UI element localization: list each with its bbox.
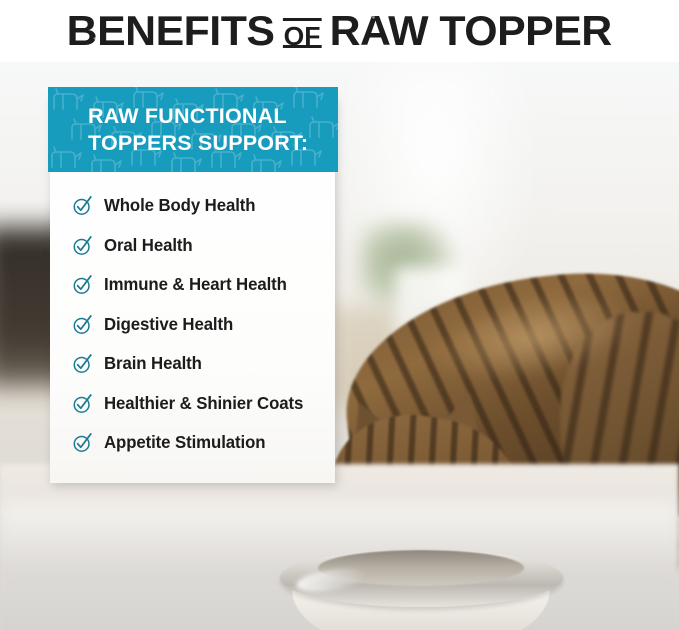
poster-canvas: BENEFITS OF RAW TOPPER: [0, 0, 679, 630]
benefit-item: Oral Health: [50, 226, 335, 266]
check-circle-icon: [72, 314, 93, 335]
benefit-label: Digestive Health: [104, 314, 233, 335]
check-circle-icon: [72, 353, 93, 374]
benefit-item: Immune & Heart Health: [50, 265, 335, 305]
page-title: BENEFITS OF RAW TOPPER: [0, 0, 679, 62]
benefit-item: Appetite Stimulation: [50, 423, 335, 463]
card-header-text: RAW FUNCTIONAL TOPPERS SUPPORT:: [48, 87, 338, 172]
title-segment-of: OF: [282, 23, 323, 49]
check-circle-icon: [72, 235, 93, 256]
card-header-banner: RAW FUNCTIONAL TOPPERS SUPPORT:: [48, 87, 338, 172]
benefit-item: Digestive Health: [50, 305, 335, 345]
card-header-line-1: RAW FUNCTIONAL: [88, 103, 338, 130]
check-circle-icon: [72, 432, 93, 453]
benefit-item: Healthier & Shinier Coats: [50, 384, 335, 424]
page-title-text: BENEFITS OF RAW TOPPER: [67, 10, 612, 52]
check-circle-icon: [72, 195, 93, 216]
benefit-label: Appetite Stimulation: [104, 432, 265, 453]
benefit-label: Immune & Heart Health: [104, 274, 287, 295]
check-circle-icon: [72, 393, 93, 414]
benefit-label: Healthier & Shinier Coats: [104, 393, 303, 414]
benefit-label: Whole Body Health: [104, 195, 255, 216]
benefit-label: Brain Health: [104, 353, 202, 374]
title-segment-raw-topper: RAW TOPPER: [330, 10, 612, 52]
benefit-item: Whole Body Health: [50, 186, 335, 226]
benefit-label: Oral Health: [104, 235, 193, 256]
benefits-list: Whole Body HealthOral HealthImmune & Hea…: [50, 186, 335, 476]
benefit-item: Brain Health: [50, 344, 335, 384]
card-header-line-2: TOPPERS SUPPORT:: [88, 130, 338, 157]
check-circle-icon: [72, 274, 93, 295]
title-segment-benefits: BENEFITS: [67, 10, 275, 52]
